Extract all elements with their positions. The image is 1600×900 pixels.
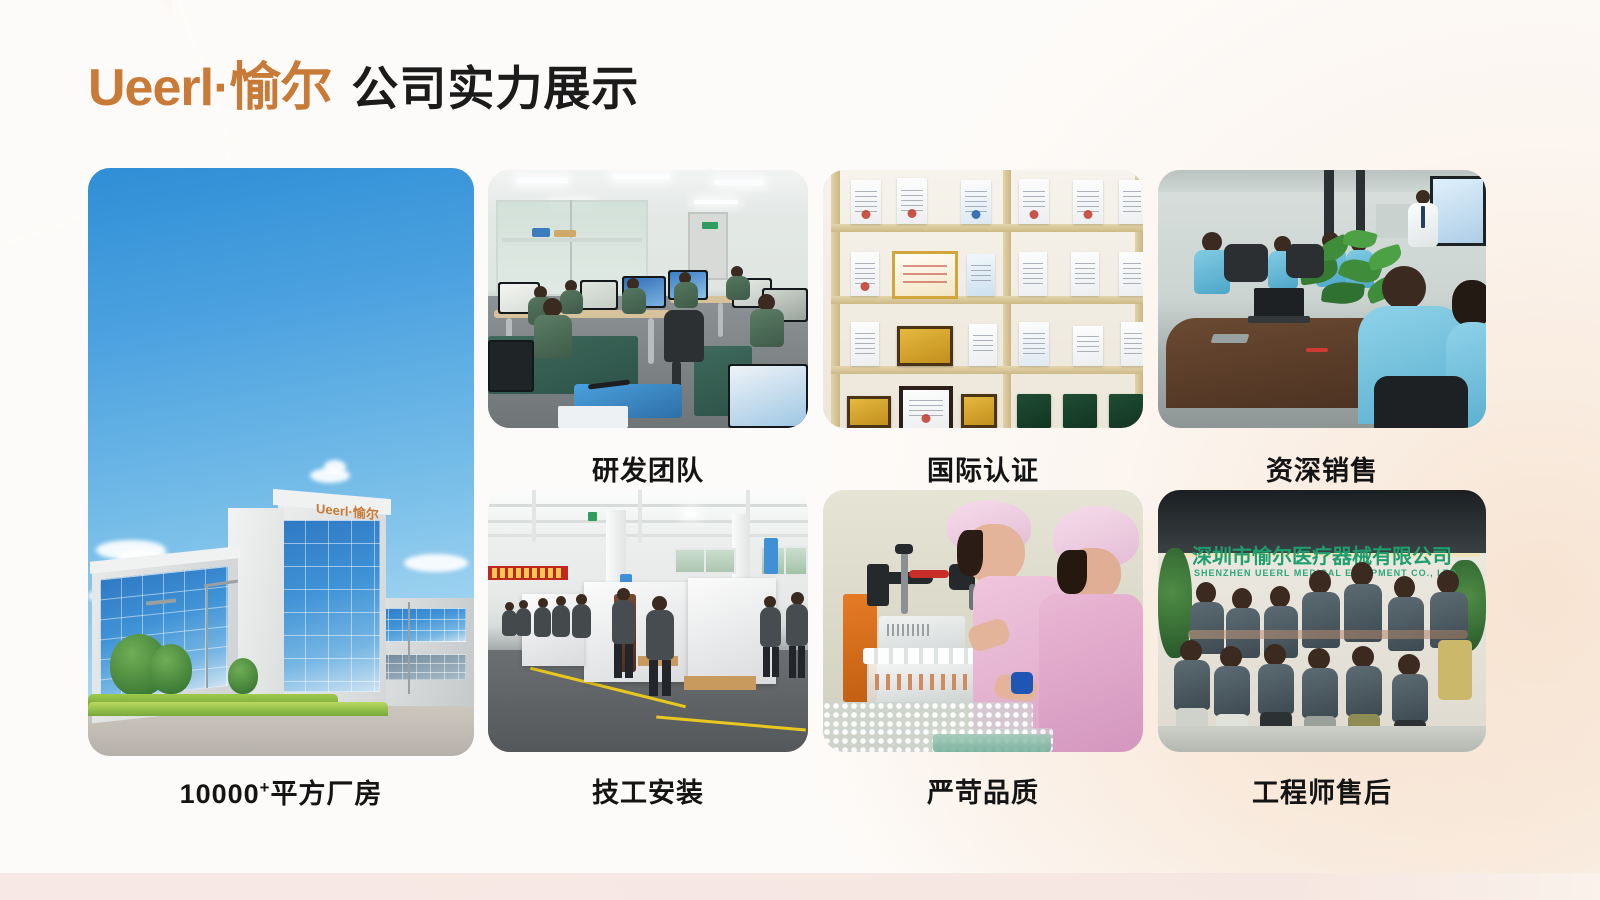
gallery-tile-factory[interactable]: Ueerl·愉尔 (88, 168, 474, 756)
slide-root: Ueerl·愉尔 公司实力展示 (0, 0, 1600, 900)
gallery-tile-certification[interactable] (823, 170, 1143, 428)
brand-logo: Ueerl·愉尔 (88, 62, 331, 114)
caption-installation: 技工安装 (488, 780, 808, 807)
gallery-tile-installation[interactable] (488, 490, 808, 752)
caption-factory-number: 10000 (180, 779, 260, 809)
team-wall-text-cn: 深圳市愉尔医疗器械有限公司 (1192, 540, 1452, 569)
page-title: 公司实力展示 (351, 65, 639, 112)
gallery-tile-service[interactable]: 深圳市愉尔医疗器械有限公司 SHENZHEN UEERL MEDICAL EQU… (1158, 490, 1486, 752)
caption-certification: 国际认证 (823, 458, 1143, 485)
gallery-tile-rd[interactable] (488, 170, 808, 428)
caption-factory-plus: + (260, 778, 271, 797)
caption-sales: 资深销售 (1158, 458, 1486, 485)
caption-factory-unit: 平方厂房 (270, 779, 382, 809)
caption-quality: 严苛品质 (823, 780, 1143, 807)
photo-installation-hall (488, 490, 808, 752)
caption-rd: 研发团队 (488, 458, 808, 485)
photo-certificate-shelves (823, 170, 1143, 428)
photo-rd-office (488, 170, 808, 428)
photo-engineer-team: 深圳市愉尔医疗器械有限公司 SHENZHEN UEERL MEDICAL EQU… (1158, 490, 1486, 752)
gallery-tile-sales[interactable] (1158, 170, 1486, 428)
caption-factory: 10000+平方厂房 (88, 780, 474, 808)
page-header: Ueerl·愉尔 公司实力展示 (88, 62, 639, 114)
image-gallery: Ueerl·愉尔 10000+平方 (88, 168, 1486, 818)
photo-sales-meeting (1158, 170, 1486, 428)
caption-service: 工程师售后 (1158, 780, 1486, 807)
photo-cleanroom-assembly (823, 490, 1143, 752)
photo-company-building: Ueerl·愉尔 (88, 168, 474, 756)
gallery-tile-quality[interactable] (823, 490, 1143, 752)
